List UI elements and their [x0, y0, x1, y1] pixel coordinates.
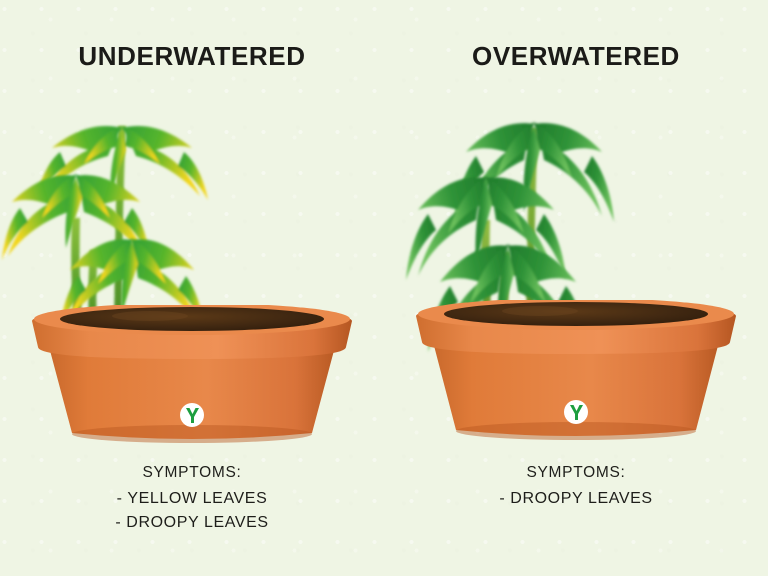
- pot-soil: [444, 302, 708, 326]
- panel-underwatered: UNDERWATERED: [0, 0, 384, 576]
- panel-title-underwatered: UNDERWATERED: [0, 41, 384, 72]
- symptom-item: - DROOPY LEAVES: [384, 490, 768, 508]
- symptoms-heading-overwatered: SYMPTOMS:: [384, 464, 768, 482]
- symptom-item: - DROOPY LEAVES: [0, 514, 384, 532]
- panel-title-overwatered: OVERWATERED: [384, 41, 768, 72]
- symptoms-underwatered: SYMPTOMS: - YELLOW LEAVES - DROOPY LEAVE…: [0, 464, 384, 538]
- brand-badge-underwatered: [180, 403, 204, 427]
- pot-underwatered: [0, 305, 384, 445]
- panel-overwatered: OVERWATERED: [384, 0, 768, 576]
- pot-underwatered-svg: [0, 305, 384, 445]
- pot-soil: [60, 307, 324, 331]
- symptom-item: - YELLOW LEAVES: [0, 490, 384, 508]
- infographic-canvas: UNDERWATERED: [0, 0, 768, 576]
- symptoms-heading-underwatered: SYMPTOMS:: [0, 464, 384, 482]
- pot-overwatered-svg: [384, 300, 768, 445]
- symptoms-overwatered: SYMPTOMS: - DROOPY LEAVES: [384, 464, 768, 514]
- pot-overwatered: [384, 300, 768, 445]
- brand-badge-overwatered: [564, 400, 588, 424]
